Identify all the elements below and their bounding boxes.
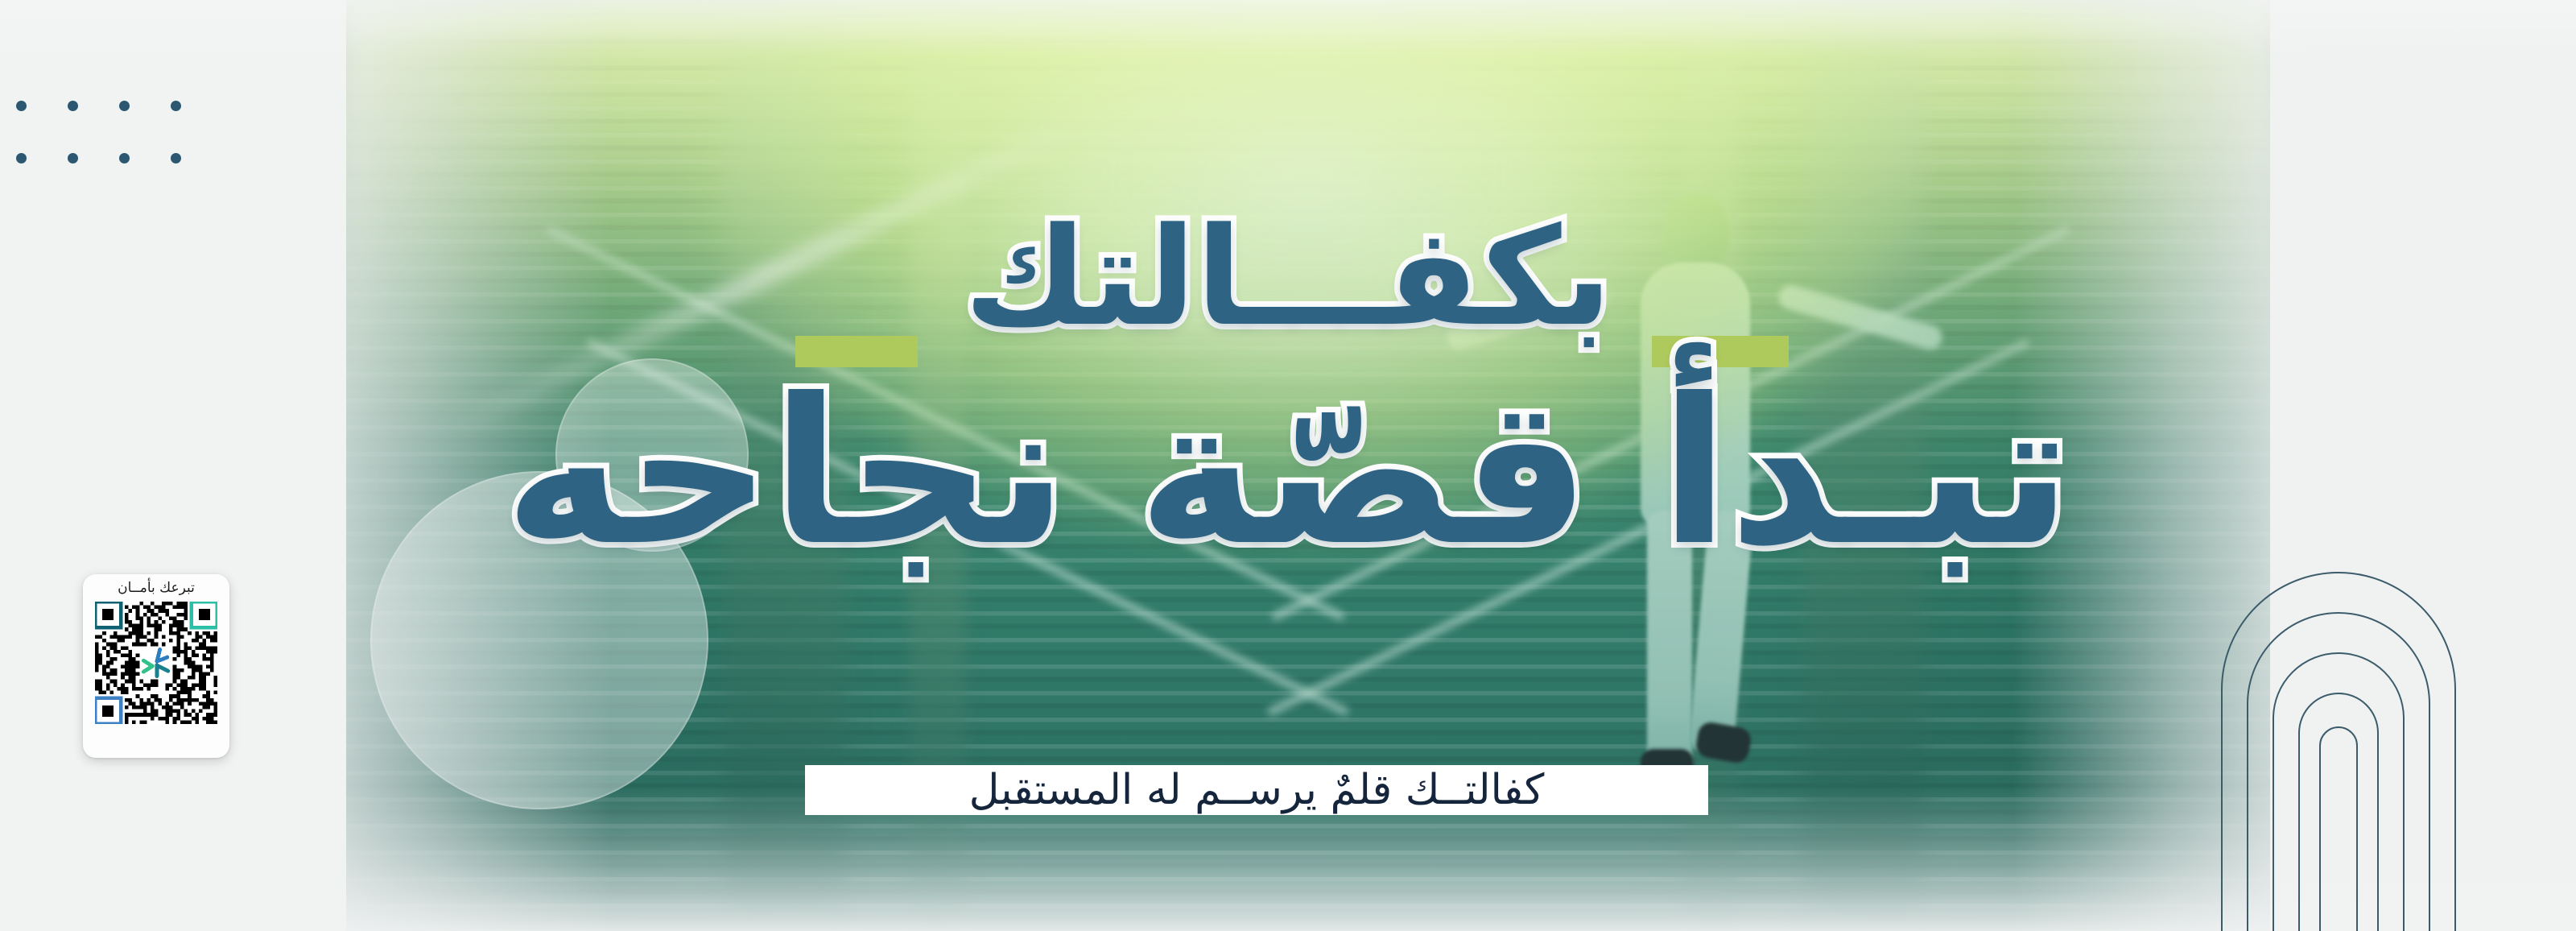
arch-lines-decoration [2198,448,2576,931]
accent-bar-right [1652,336,1789,367]
grid-dot-r1-c4 [171,101,181,111]
qr-donation-card[interactable]: تبرعك بأمــان [83,574,229,758]
top-edge-fade [0,0,2576,56]
dot-grid-decoration [0,0,193,177]
grid-dot-r2-c2 [68,153,78,163]
grid-dot-r1-c1 [16,101,27,111]
grid-dot-r1-c2 [68,101,78,111]
grid-dot-r1-c3 [119,101,130,111]
campaign-banner: بكفـــالتك تبـدأ قصّة نجاحه كفالتــك قلم… [0,0,2576,931]
qr-code-image[interactable] [95,602,217,724]
subtitle-text: كفالتــك قلمٌ يرســم له المستقبل [969,769,1545,811]
grid-dot-r2-c3 [119,153,130,163]
qr-caption: تبرعك بأمــان [118,581,195,595]
accent-bar-left [795,336,918,367]
grid-dot-r2-c1 [16,153,27,163]
subtitle-banner: كفالتــك قلمٌ يرســم له المستقبل [805,765,1708,815]
grid-dot-r2-c4 [171,153,181,163]
